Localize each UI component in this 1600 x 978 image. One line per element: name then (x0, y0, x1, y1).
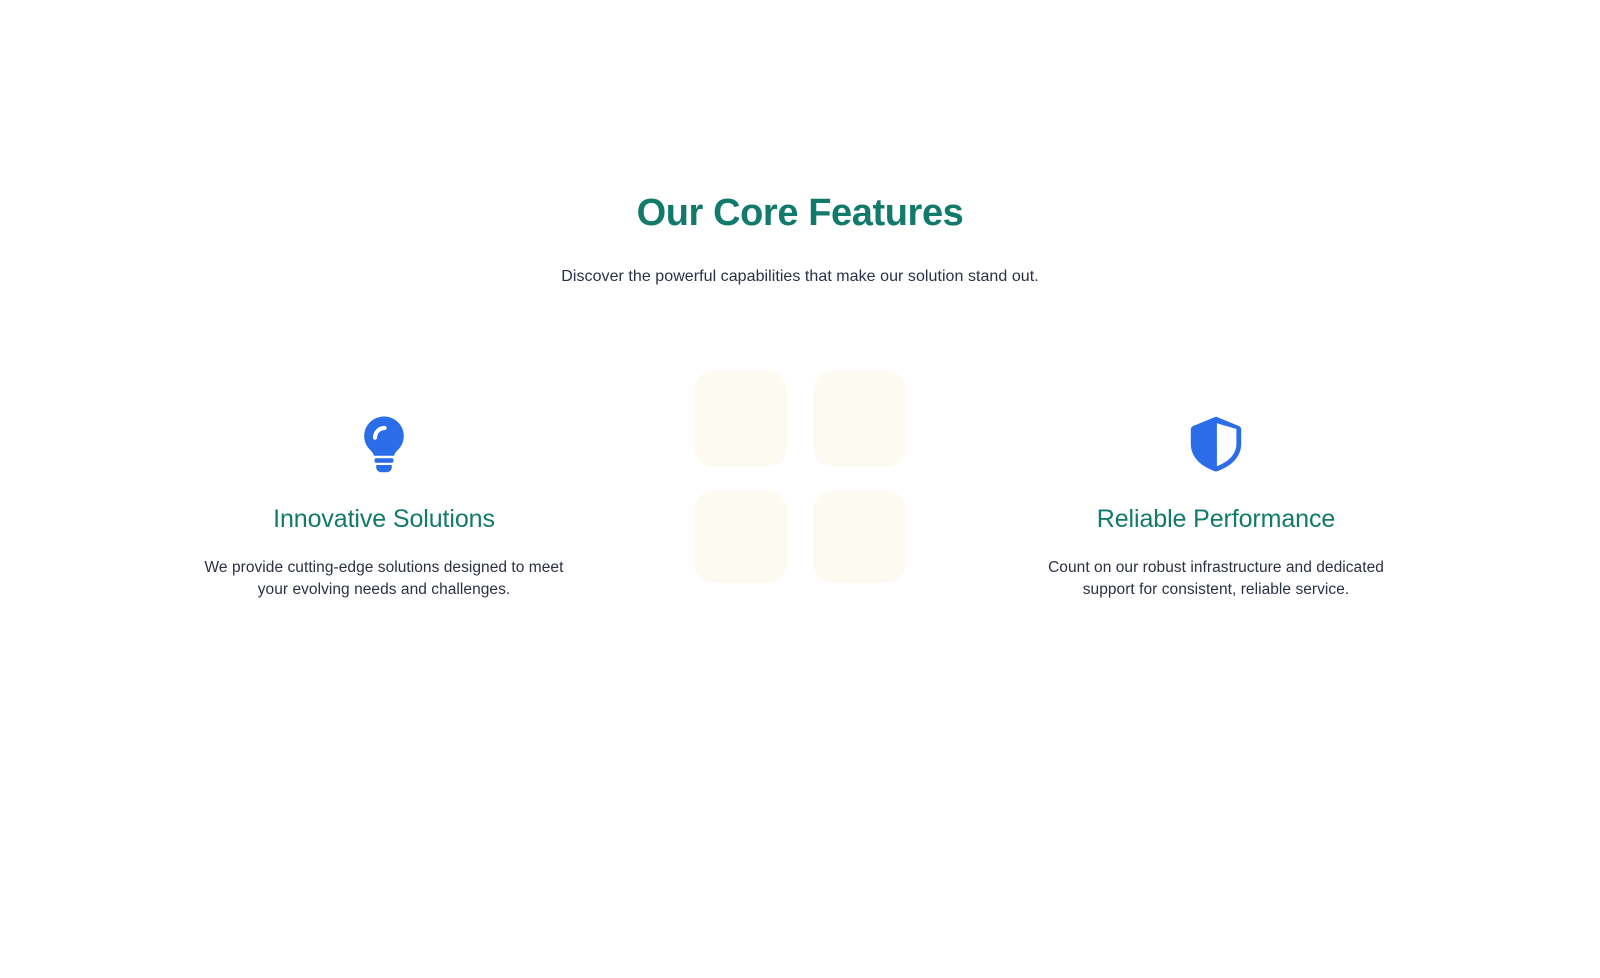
lightbulb-icon (352, 412, 416, 476)
feature-card-reliable-performance[interactable]: Reliable Performance Count on our robust… (1008, 358, 1424, 601)
feature-description: Count on our robust infrastructure and d… (1034, 536, 1398, 601)
feature-card-innovative-solutions[interactable]: Innovative Solutions We provide cutting-… (176, 358, 592, 601)
features-page: Our Core Features Discover the powerful … (0, 0, 1600, 978)
feature-title: Innovative Solutions (273, 476, 495, 536)
placeholder-tile-1 (694, 370, 787, 467)
feature-card-placeholder (592, 358, 1008, 583)
features-grid: Innovative Solutions We provide cutting-… (176, 358, 1424, 601)
feature-title: Reliable Performance (1097, 476, 1335, 536)
section-header: Our Core Features Discover the powerful … (0, 190, 1600, 289)
placeholder-tile-4 (813, 490, 906, 583)
section-subtitle: Discover the powerful capabilities that … (0, 236, 1600, 289)
placeholder-tile-3 (694, 490, 787, 583)
feature-description: We provide cutting-edge solutions design… (202, 536, 566, 601)
page-title: Our Core Features (0, 190, 1600, 236)
shield-icon (1184, 412, 1248, 476)
placeholder-tile-2 (813, 370, 906, 467)
placeholder-tile-grid (694, 370, 906, 583)
